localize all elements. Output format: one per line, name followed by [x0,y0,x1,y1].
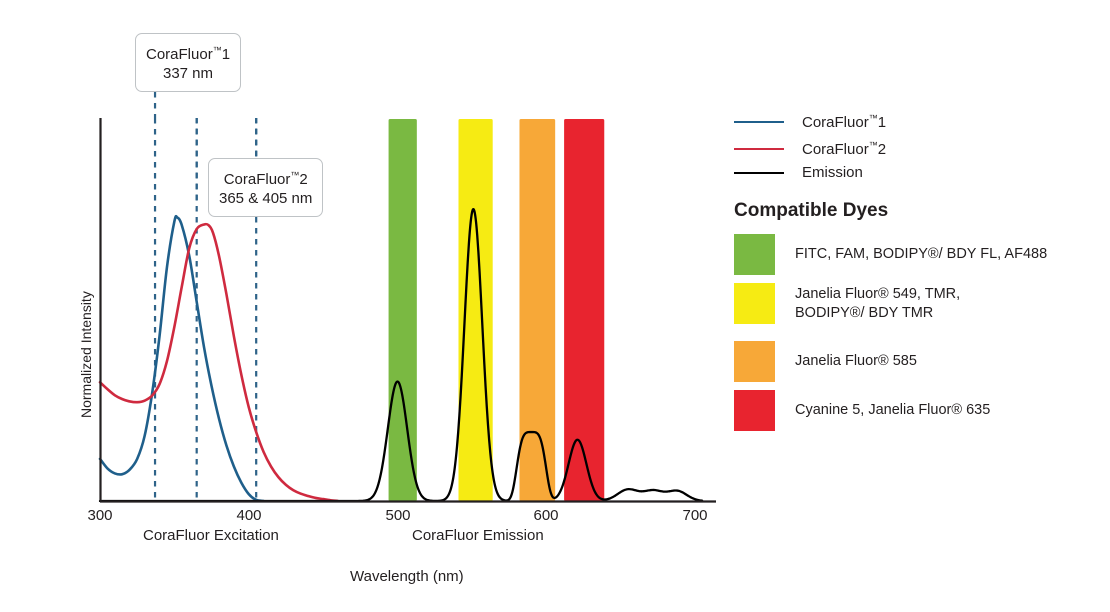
dye-label-green-line1: FITC, FAM, BODIPY®/ BDY FL, AF488 [795,246,1047,262]
callout-corafluor2-value: 365 & 405 nm [219,189,312,208]
trademark-icon: ™ [213,45,222,55]
callout-corafluor2-title: CoraFluor™2 [219,166,312,189]
dye-item-red: Cyanine 5, Janelia Fluor® 635 [734,390,990,431]
legend-line-emission [734,172,784,174]
x-tick-300: 300 [70,507,130,524]
dye-label-red-line1: Cyanine 5, Janelia Fluor® 635 [795,402,990,418]
x-tick-500: 500 [368,507,428,524]
spectra-plot: CoraFluor™1 337 nm CoraFluor™2 365 & 405… [0,0,730,612]
x-axis-title: Wavelength (nm) [350,568,464,585]
callout-corafluor2-name: CoraFluor [224,171,291,188]
legend-panel: CoraFluor™1 CoraFluor™2 Emission Compati… [731,0,1110,612]
trademark-icon: ™ [869,113,878,123]
dye-label-orange: Janelia Fluor® 585 [795,352,917,371]
dye-swatch-orange [734,341,775,382]
range-label-excitation: CoraFluor Excitation [143,527,279,544]
dye-label-orange-line1: Janelia Fluor® 585 [795,353,917,369]
x-tick-700: 700 [665,507,725,524]
dye-bands-group [389,119,605,501]
callout-corafluor1-title: CoraFluor™1 [146,41,230,64]
range-label-emission: CoraFluor Emission [412,527,544,544]
callout-corafluor1-value: 337 nm [146,64,230,83]
dye-item-yellow: Janelia Fluor® 549, TMR, BODIPY®/ BDY TM… [734,283,960,324]
legend-label-corafluor1-name: CoraFluor [802,114,869,131]
dye-item-green: FITC, FAM, BODIPY®/ BDY FL, AF488 [734,234,1047,275]
dye-swatch-green [734,234,775,275]
dye-band-1 [458,119,492,501]
callout-corafluor2-suffix: 2 [299,171,307,188]
legend-label-emission: Emission [802,164,863,181]
callout-corafluor1-suffix: 1 [222,46,230,63]
legend-item-corafluor1: CoraFluor™1 [734,113,886,131]
legend-label-corafluor1-suffix: 1 [878,114,886,131]
legend-line-corafluor1 [734,121,784,123]
legend-line-corafluor2 [734,148,784,150]
dye-band-3 [564,119,604,501]
trademark-icon: ™ [869,140,878,150]
dye-item-orange: Janelia Fluor® 585 [734,341,917,382]
legend-label-corafluor1: CoraFluor™1 [802,113,886,131]
dye-band-2 [519,119,555,501]
dye-label-green: FITC, FAM, BODIPY®/ BDY FL, AF488 [795,245,1047,264]
x-tick-400: 400 [219,507,279,524]
legend-label-corafluor2-name: CoraFluor [802,141,869,158]
y-axis-title: Normalized Intensity [78,291,94,418]
excitation-marker-lines-group [155,92,256,501]
legend-label-corafluor2-suffix: 2 [878,141,886,158]
dye-label-red: Cyanine 5, Janelia Fluor® 635 [795,401,990,420]
dye-label-yellow-line2: BODIPY®/ BDY TMR [795,304,960,323]
dye-label-yellow-line1: Janelia Fluor® 549, TMR, [795,285,960,304]
dye-band-0 [389,119,417,501]
legend-item-emission: Emission [734,164,863,181]
legend-label-corafluor2: CoraFluor™2 [802,140,886,158]
compatible-dyes-title: Compatible Dyes [734,200,888,222]
x-tick-600: 600 [516,507,576,524]
dye-swatch-red [734,390,775,431]
callout-corafluor2: CoraFluor™2 365 & 405 nm [208,158,323,217]
callout-corafluor1-name: CoraFluor [146,46,213,63]
dye-swatch-yellow [734,283,775,324]
callout-corafluor1: CoraFluor™1 337 nm [135,33,241,92]
legend-item-corafluor2: CoraFluor™2 [734,140,886,158]
dye-label-yellow: Janelia Fluor® 549, TMR, BODIPY®/ BDY TM… [795,285,960,323]
